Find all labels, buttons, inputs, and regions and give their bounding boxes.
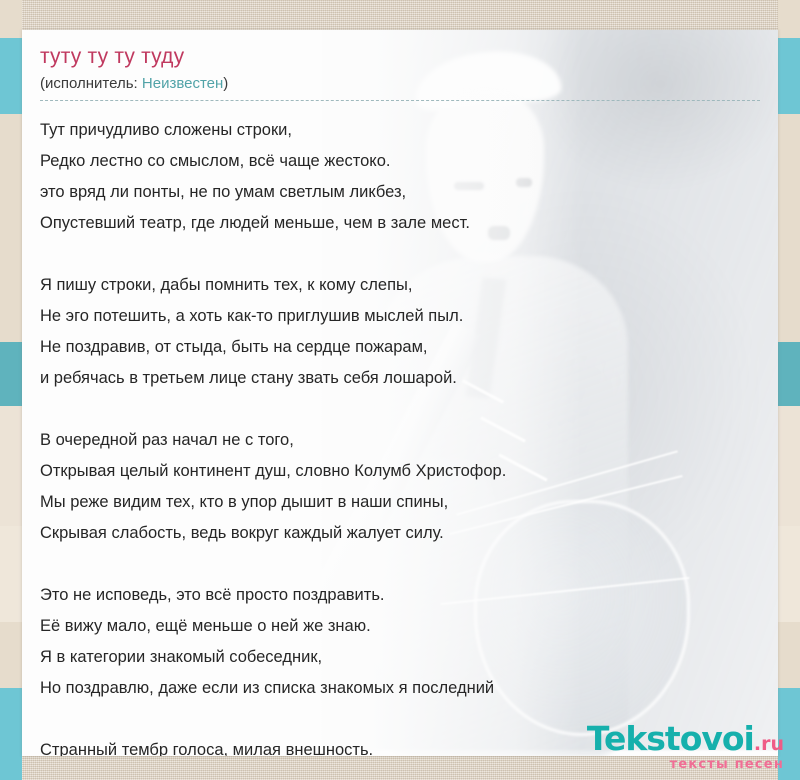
stripe-block <box>0 342 22 406</box>
lyrics-line: Скрывая слабость, ведь вокруг каждый жал… <box>40 518 760 549</box>
stripe-block <box>0 526 22 622</box>
lyrics-text: Тут причудливо сложены строки,Редко лест… <box>40 115 760 756</box>
lyrics-line: Это не исповедь, это всё просто поздрави… <box>40 580 760 611</box>
stripe-block <box>0 688 22 780</box>
lyrics-stanza: В очередной раз начал не с того,Открывая… <box>40 425 760 549</box>
logo-name-text: Tekstovoi <box>587 719 754 758</box>
lyrics-card: туту ту ту туду (исполнитель: Неизвестен… <box>22 30 778 756</box>
lyrics-line: Мы реже видим тех, кто в упор дышит в на… <box>40 487 760 518</box>
stripe-block <box>0 212 22 342</box>
stripe-block <box>778 622 800 688</box>
header-divider <box>40 100 760 101</box>
stripe-block <box>778 406 800 526</box>
logo-wordmark: Tekstovoi.ru <box>587 722 784 761</box>
stripe-block <box>778 526 800 622</box>
lyrics-line: и ребячась в третьем лице стану звать се… <box>40 363 760 394</box>
lyrics-line: В очередной раз начал не с того, <box>40 425 760 456</box>
stripe-block <box>778 212 800 342</box>
lyrics-line: это вряд ли понты, не по умам светлым ли… <box>40 177 760 208</box>
artist-line: (исполнитель: Неизвестен) <box>40 74 760 94</box>
artist-label: (исполнитель: <box>40 75 138 92</box>
artist-link[interactable]: Неизвестен <box>142 75 223 92</box>
lyrics-stanza: Я пишу строки, дабы помнить тех, к кому … <box>40 270 760 394</box>
page-title: туту ту ту туду <box>40 44 760 70</box>
stripe-block <box>778 342 800 406</box>
lyrics-stanza: Это не исповедь, это всё просто поздрави… <box>40 580 760 704</box>
stripe-block <box>0 406 22 526</box>
lyrics-line: Я в категории знакомый собеседник, <box>40 642 760 673</box>
stripe-block <box>778 0 800 38</box>
lyrics-line: Её вижу мало, ещё меньше о ней же знаю. <box>40 611 760 642</box>
logo-tld-text: .ru <box>754 733 784 755</box>
lyrics-line: Но поздравлю, даже если из списка знаком… <box>40 673 760 704</box>
lyrics-line: Тут причудливо сложены строки, <box>40 115 760 146</box>
decorative-stripe-band-left <box>0 0 22 780</box>
lyrics-line: Открывая целый континент душ, словно Кол… <box>40 456 760 487</box>
artist-suffix: ) <box>223 75 228 92</box>
page-background: туту ту ту туду (исполнитель: Неизвестен… <box>0 0 800 780</box>
stripe-block <box>0 114 22 212</box>
stripe-block <box>778 114 800 212</box>
stripe-block <box>778 38 800 114</box>
lyrics-line: Не эго потешить, а хоть как-то приглушив… <box>40 301 760 332</box>
lyrics-line: Не поздравив, от стыда, быть на сердце п… <box>40 332 760 363</box>
lyrics-line: Редко лестно со смыслом, всё чаще жесток… <box>40 146 760 177</box>
stripe-block <box>0 622 22 688</box>
lyrics-line: Опустевший театр, где людей меньше, чем … <box>40 208 760 239</box>
stripe-block <box>0 38 22 114</box>
decorative-stripe-band-right <box>778 0 800 780</box>
stripe-block <box>0 0 22 38</box>
site-logo[interactable]: Tekstovoi.ru тексты песен <box>587 722 784 772</box>
lyrics-line: Я пишу строки, дабы помнить тех, к кому … <box>40 270 760 301</box>
card-content: туту ту ту туду (исполнитель: Неизвестен… <box>22 30 778 756</box>
lyrics-stanza: Тут причудливо сложены строки,Редко лест… <box>40 115 760 239</box>
